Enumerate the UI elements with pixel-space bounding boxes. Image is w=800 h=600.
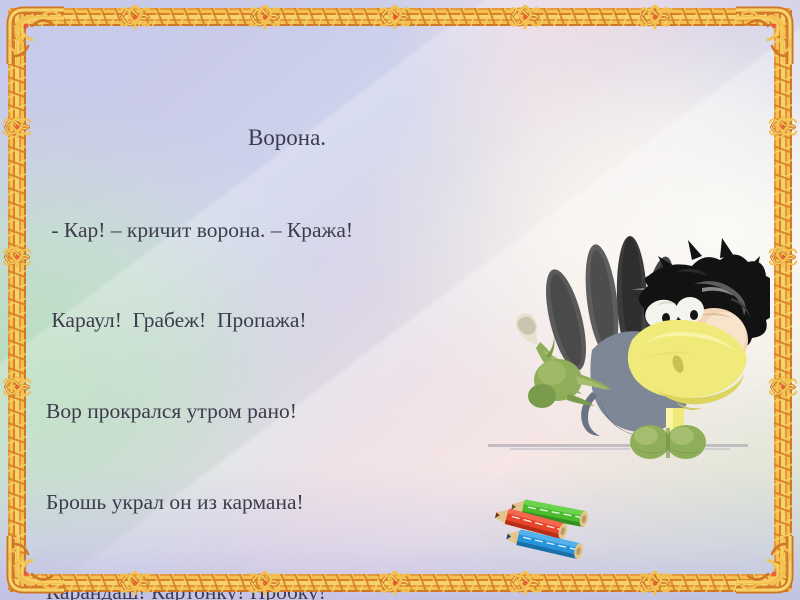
- poem-line-2: Караул! Грабеж! Пропажа!: [46, 305, 516, 335]
- poem-line-1: - Кар! – кричит ворона. – Кража!: [46, 215, 516, 245]
- crow-feet: [630, 425, 706, 459]
- crow-illustration: [480, 180, 770, 470]
- poem-text-block: Ворона. - Кар! – кричит ворона. – Кража!…: [46, 62, 516, 600]
- ground-shadow-line: [488, 444, 748, 450]
- page-title: Ворона.: [46, 122, 516, 154]
- poem-line-5: Карандаш! Картонку! Пробку!: [46, 577, 516, 600]
- slide-canvas: Ворона. - Кар! – кричит ворона. – Кража!…: [0, 0, 800, 600]
- colored-pencils-illustration: [486, 496, 616, 566]
- poem-line-4: Брошь украл он из кармана!: [46, 487, 516, 517]
- poem-line-3: Вор прокрался утром рано!: [46, 396, 516, 426]
